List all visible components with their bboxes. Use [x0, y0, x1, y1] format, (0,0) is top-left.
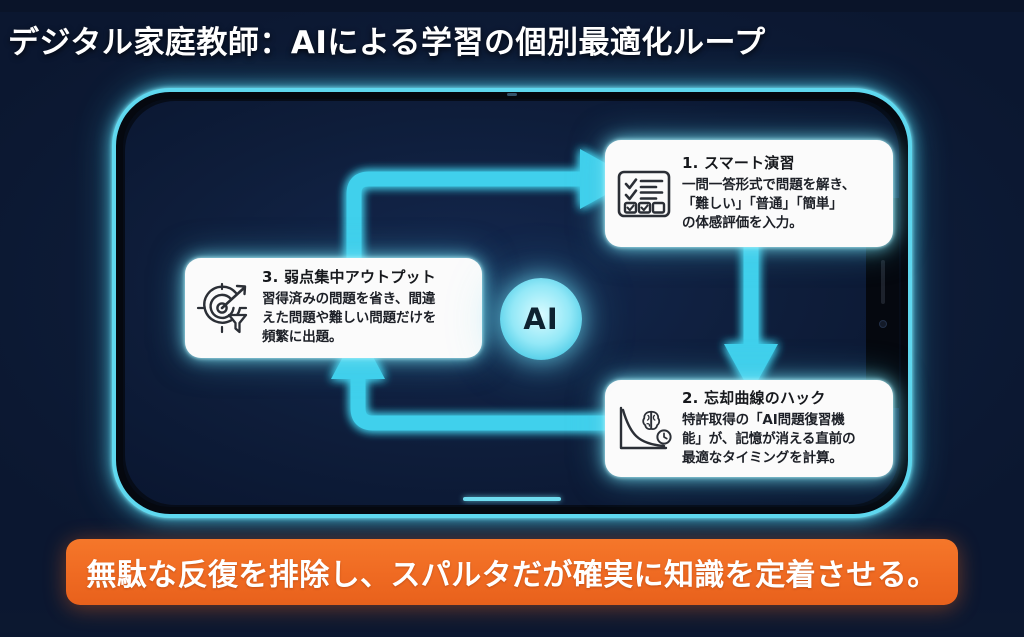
target-funnel-icon	[195, 279, 253, 337]
phone-camera-icon	[879, 320, 887, 328]
card-title: 1. スマート演習	[682, 154, 881, 173]
card-description: 習得済みの問題を省き、間違 えた問題や難しい問題だけを 頻繁に出題。	[262, 290, 470, 347]
phone-home-indicator	[463, 497, 561, 501]
card-title: 2. 忘却曲線のハック	[682, 389, 881, 408]
bottom-fade	[0, 603, 1024, 637]
step-card-smart-practice[interactable]: 1. スマート演習 一問一答形式で問題を解き、 「難しい」「普通」「簡単」 の体…	[605, 140, 893, 247]
card-title: 3. 弱点集中アウトプット	[262, 268, 470, 287]
ai-badge-label: AI	[523, 302, 558, 336]
background-top-bar	[0, 0, 1024, 12]
forgetting-curve-brain-icon	[615, 400, 673, 458]
card-description: 特許取得の「AI問題復習機 能」が、記憶が消える直前の 最適なタイミングを計算。	[682, 411, 881, 468]
bottom-banner-text: 無駄な反復を排除し、スパルタだが確実に知識を定着させる。	[86, 550, 937, 594]
bottom-banner: 無駄な反復を排除し、スパルタだが確実に知識を定着させる。	[66, 539, 958, 605]
phone-top-speaker	[507, 93, 517, 96]
phone-earpiece-icon	[881, 260, 885, 304]
card-body: 3. 弱点集中アウトプット 習得済みの問題を省き、間違 えた問題や難しい問題だけ…	[262, 268, 470, 347]
ai-center-badge: AI	[500, 278, 582, 360]
card-body: 2. 忘却曲線のハック 特許取得の「AI問題復習機 能」が、記憶が消える直前の …	[682, 389, 881, 468]
page-title: デジタル家庭教師：AIによる学習の個別最適化ループ	[8, 17, 766, 62]
step-card-weakpoint-output[interactable]: 3. 弱点集中アウトプット 習得済みの問題を省き、間違 えた問題や難しい問題だけ…	[185, 258, 482, 358]
arrow-card1-to-card2	[724, 226, 778, 393]
card-body: 1. スマート演習 一問一答形式で問題を解き、 「難しい」「普通」「簡単」 の体…	[682, 154, 881, 233]
step-card-forgetting-curve[interactable]: 2. 忘却曲線のハック 特許取得の「AI問題復習機 能」が、記憶が消える直前の …	[605, 380, 893, 477]
checklist-icon	[615, 165, 673, 223]
card-description: 一問一答形式で問題を解き、 「難しい」「普通」「簡単」 の体感評価を入力。	[682, 176, 881, 233]
